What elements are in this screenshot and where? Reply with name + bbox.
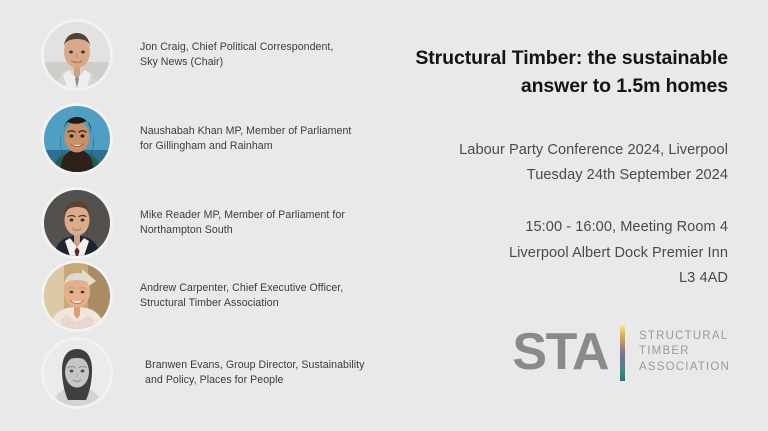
- speaker-line: Jon Craig, Chief Political Correspondent…: [140, 40, 333, 56]
- speaker-line: for Gillingham and Rainham: [140, 139, 351, 155]
- speaker-line: Andrew Carpenter, Chief Executive Office…: [140, 281, 343, 297]
- avatar-photo-branwen-evans: [44, 340, 110, 406]
- title-line: answer to 1.5m homes: [398, 72, 728, 100]
- speaker-row: Andrew Carpenter, Chief Executive Office…: [44, 263, 384, 329]
- sta-logo-wordmark: STRUCTURAL TIMBER ASSOCIATION: [639, 329, 730, 376]
- avatar-photo-andrew-carpenter: [44, 263, 110, 329]
- logo-word-line: ASSOCIATION: [639, 360, 730, 376]
- venue-line: 15:00 - 16:00, Meeting Room 4: [398, 215, 728, 241]
- venue-info: 15:00 - 16:00, Meeting Room 4 Liverpool …: [398, 215, 728, 292]
- avatar-photo-jon-craig: [44, 22, 110, 88]
- speaker-description: Mike Reader MP, Member of Parliament for…: [140, 208, 345, 239]
- speaker-description: Branwen Evans, Group Director, Sustainab…: [145, 358, 365, 389]
- speaker-line: and Policy, Places for People: [145, 373, 365, 389]
- speaker-description: Andrew Carpenter, Chief Executive Office…: [140, 281, 343, 312]
- speaker-line: Northampton South: [140, 223, 345, 239]
- conference-info: Labour Party Conference 2024, Liverpool …: [398, 138, 728, 188]
- speaker-row: Naushabah Khan MP, Member of Parliament …: [44, 106, 384, 172]
- speaker-line: Mike Reader MP, Member of Parliament for: [140, 208, 345, 224]
- speaker-row: Mike Reader MP, Member of Parliament for…: [44, 190, 384, 256]
- sta-logo: STA STRUCTURAL TIMBER ASSOCIATION: [512, 320, 730, 384]
- logo-word-line: TIMBER: [639, 344, 730, 360]
- logo-word-line: STRUCTURAL: [639, 329, 730, 345]
- speaker-row: Branwen Evans, Group Director, Sustainab…: [44, 340, 384, 406]
- speaker-description: Naushabah Khan MP, Member of Parliament …: [140, 124, 351, 155]
- event-details: Structural Timber: the sustainable answe…: [384, 0, 768, 431]
- speaker-list: Jon Craig, Chief Political Correspondent…: [0, 0, 384, 431]
- conference-line: Tuesday 24th September 2024: [398, 163, 728, 188]
- speaker-line: Branwen Evans, Group Director, Sustainab…: [145, 358, 365, 374]
- avatar-photo-mike-reader: [44, 190, 110, 256]
- gradient-bar-icon: [620, 323, 625, 381]
- speaker-line: Sky News (Chair): [140, 55, 333, 71]
- title-line: Structural Timber: the sustainable: [398, 44, 728, 72]
- presentation-slide: Jon Craig, Chief Political Correspondent…: [0, 0, 768, 431]
- speaker-row: Jon Craig, Chief Political Correspondent…: [44, 22, 384, 88]
- venue-line: L3 4AD: [398, 266, 728, 292]
- conference-line: Labour Party Conference 2024, Liverpool: [398, 138, 728, 163]
- speaker-description: Jon Craig, Chief Political Correspondent…: [140, 40, 333, 71]
- avatar-photo-naushabah-khan: [44, 106, 110, 172]
- sta-logo-mark: STA: [512, 326, 608, 378]
- speaker-line: Naushabah Khan MP, Member of Parliament: [140, 124, 351, 140]
- speaker-line: Structural Timber Association: [140, 296, 343, 312]
- venue-line: Liverpool Albert Dock Premier Inn: [398, 241, 728, 267]
- page-title: Structural Timber: the sustainable answe…: [398, 44, 728, 100]
